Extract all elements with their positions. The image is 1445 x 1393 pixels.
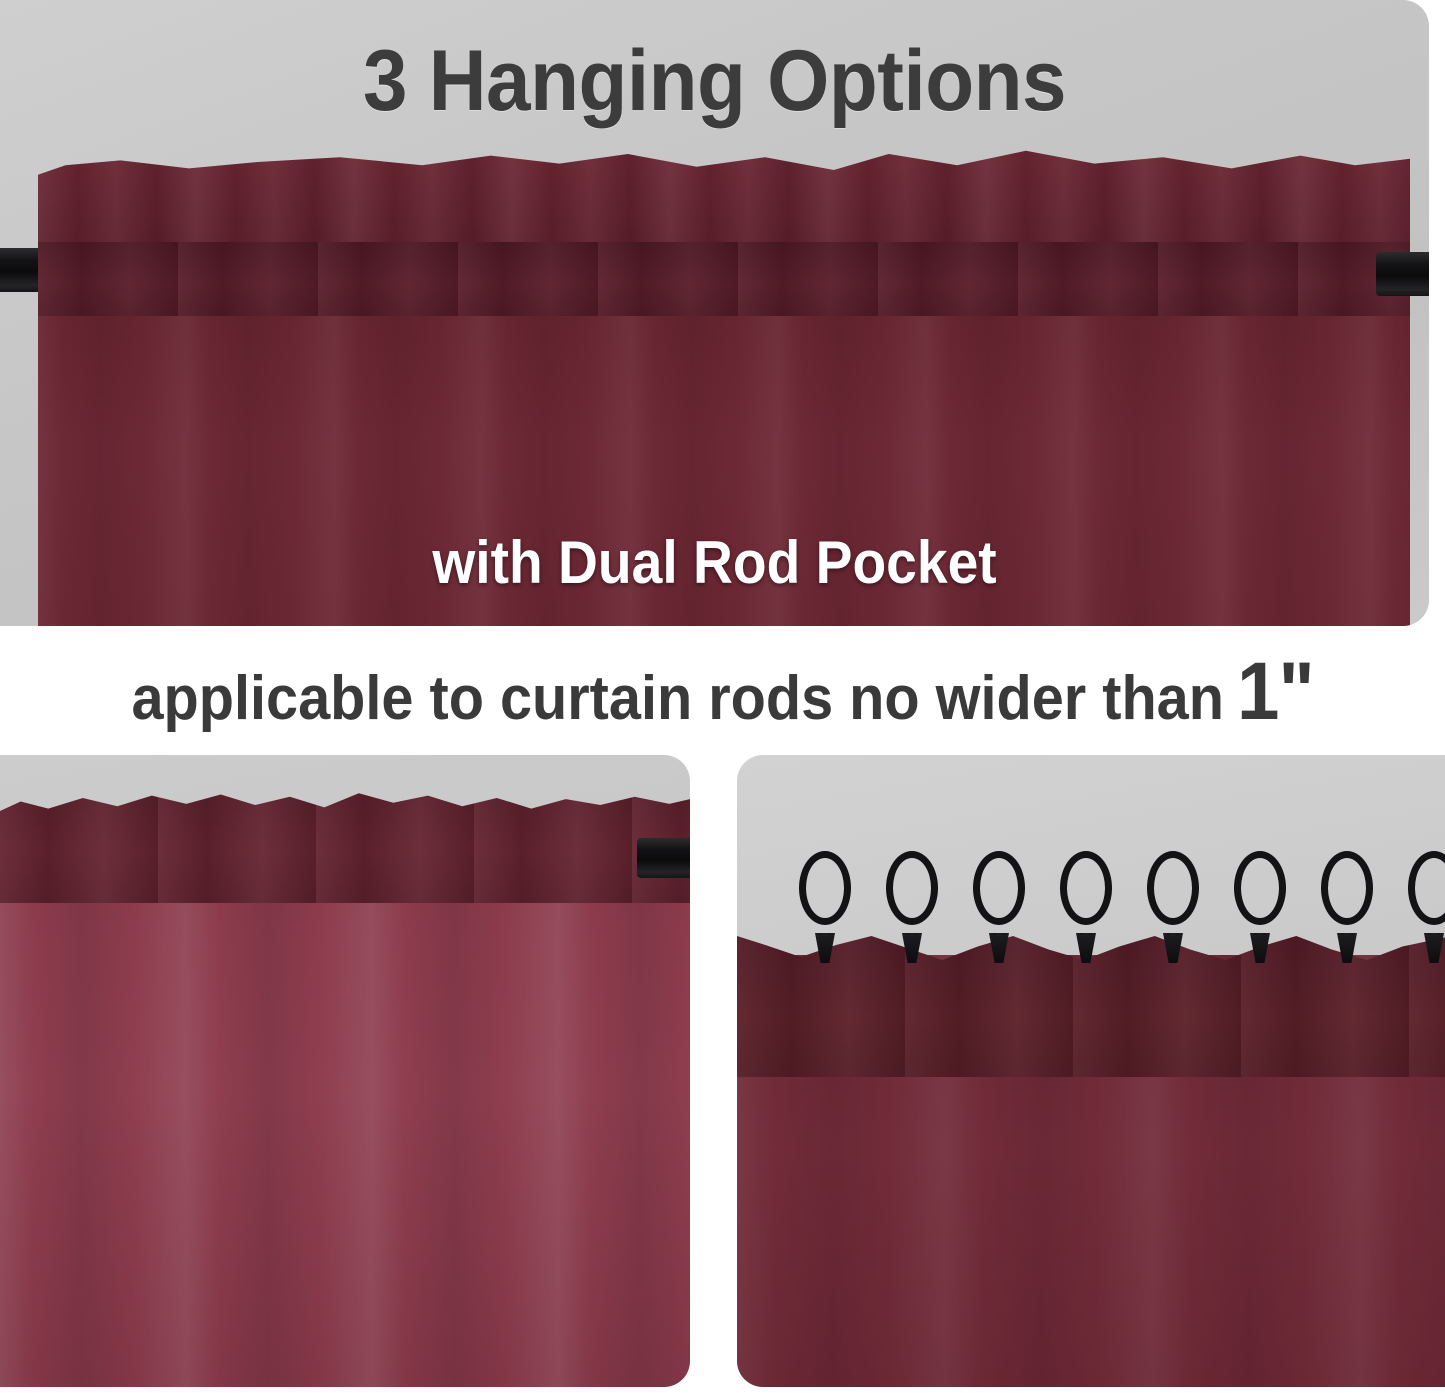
- page-title: 3 Hanging Options: [50, 38, 1379, 124]
- caption-dual-rod-pocket: with Dual Rod Pocket: [57, 533, 1372, 593]
- curtain-ring-icon: [973, 851, 1025, 925]
- rod-width-note: applicable to curtain rods no wider than…: [131, 651, 1313, 733]
- curtain-ring-icon: [1321, 851, 1373, 925]
- curtain-ring-icon: [886, 851, 938, 925]
- dual-rod-pocket-band: [38, 242, 1410, 316]
- rod-width-note-row: applicable to curtain rods no wider than…: [0, 640, 1445, 744]
- curtain-ring-icon: [799, 851, 851, 925]
- curtain-rod-right-icon: [1376, 252, 1429, 296]
- infographic-stage: 3 Hanging Options with Dual Rod Pocket a…: [0, 0, 1445, 1393]
- rod-width-note-text: applicable to curtain rods no wider than: [131, 668, 1223, 730]
- rod-width-measure: 1": [1237, 651, 1314, 733]
- curtain-ring-icon: [1147, 851, 1199, 925]
- curtain-rod-end-icon: [637, 838, 690, 878]
- panel-pole-top: Pole Top -with bottom hem: [0, 755, 690, 1387]
- curtain-ring-icon: [1060, 851, 1112, 925]
- curtain-bottom-hem-band: [0, 785, 690, 903]
- curtain-fabric-body: [0, 895, 690, 1387]
- panel-with-clips: with Clips(not included): [737, 755, 1445, 1387]
- curtain-ring-icon: [1408, 851, 1445, 925]
- curtain-ring-icon: [1234, 851, 1286, 925]
- panel-dual-rod-pocket: 3 Hanging Options with Dual Rod Pocket: [0, 0, 1429, 626]
